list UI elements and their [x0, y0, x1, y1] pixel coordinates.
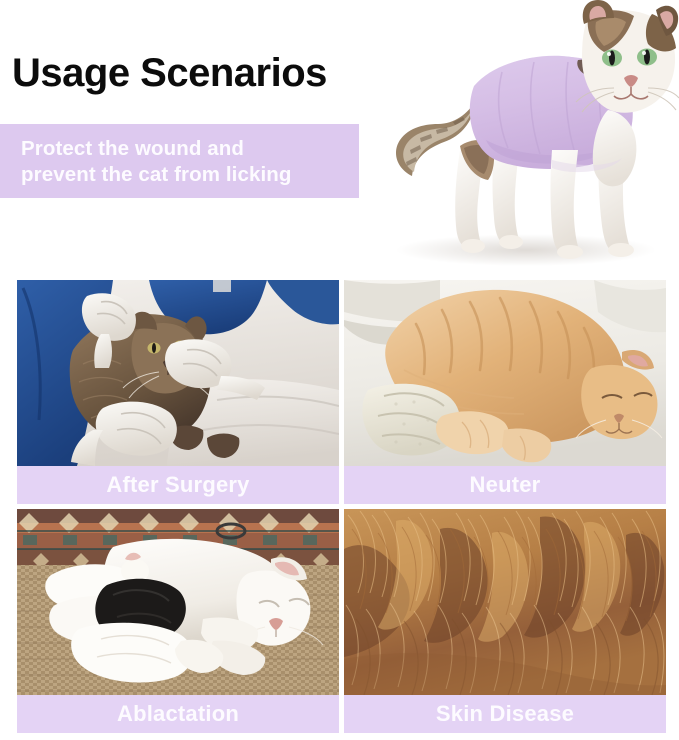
- caption-bar-after-surgery: After Surgery: [17, 466, 339, 504]
- neuter-artwork: [344, 280, 666, 466]
- scenario-card-after-surgery[interactable]: After Surgery: [17, 280, 339, 504]
- ablactation-artwork: [17, 509, 339, 695]
- scenario-card-neuter[interactable]: Neuter: [344, 280, 666, 504]
- caption-bar-ablactation: Ablactation: [17, 695, 339, 733]
- skin-disease-artwork: [344, 509, 666, 695]
- hero-cat-image: [356, 0, 679, 272]
- hero-section: Usage Scenarios Protect the wound and pr…: [0, 0, 679, 272]
- caption-label-skin-disease: Skin Disease: [436, 703, 574, 725]
- after-surgery-image: [17, 280, 339, 466]
- caption-bar-neuter: Neuter: [344, 466, 666, 504]
- caption-label-neuter: Neuter: [470, 474, 541, 496]
- ablactation-image: [17, 509, 339, 695]
- tagline-banner: Protect the wound and prevent the cat fr…: [0, 124, 359, 198]
- after-surgery-artwork: [17, 280, 339, 466]
- hero-cat-artwork: [356, 0, 679, 272]
- tagline-text: Protect the wound and prevent the cat fr…: [21, 136, 351, 188]
- caption-label-ablactation: Ablactation: [117, 703, 239, 725]
- scenario-card-skin-disease[interactable]: Skin Disease: [344, 509, 666, 733]
- skin-disease-image: [344, 509, 666, 695]
- neuter-image: [344, 280, 666, 466]
- scenario-grid: After Surgery: [17, 280, 666, 733]
- page-title: Usage Scenarios: [12, 52, 327, 94]
- caption-label-after-surgery: After Surgery: [106, 474, 249, 496]
- scenario-card-ablactation[interactable]: Ablactation: [17, 509, 339, 733]
- caption-bar-skin-disease: Skin Disease: [344, 695, 666, 733]
